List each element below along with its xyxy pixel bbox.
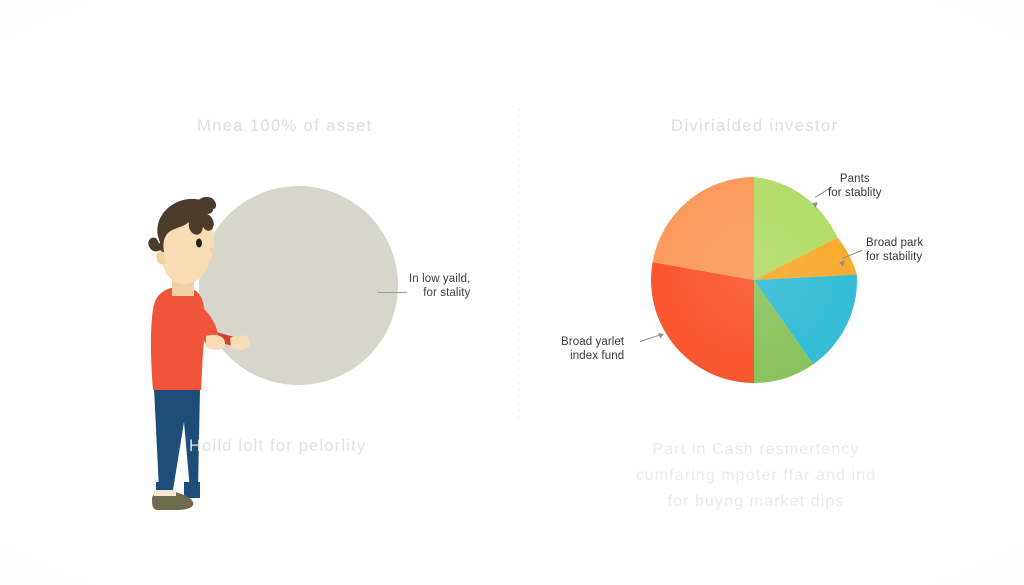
left-callout-line-1: In low yaild, — [409, 272, 470, 286]
portfolio-pie-chart — [649, 175, 859, 385]
right-footer-line-3: for buyng market dips — [576, 489, 936, 515]
panel-divider — [518, 108, 519, 420]
right-footer-line-1: Part in Cash resmertency — [576, 437, 936, 463]
illustration-canvas: Mnea 100% of asset In low yaild, for sta… — [0, 0, 1024, 585]
right-panel-footer: Part in Cash resmertency cumfaring mpote… — [576, 437, 936, 515]
label-broad-market-index-fund: Broad yarlet index fund — [561, 335, 624, 363]
label-pants-line-2: for stablity — [828, 186, 882, 200]
left-callout-line-2: for stality — [409, 286, 470, 300]
pie-shading-overlay — [651, 177, 857, 383]
right-panel-heading: Divirialded investor — [671, 117, 838, 136]
label-broad-park-for-stability: Broad park for stability — [866, 236, 923, 264]
right-footer-line-2: cumfaring mpoter ffar and ind — [576, 463, 936, 489]
label-broad-park-line-1: Broad park — [866, 236, 923, 250]
investor-character — [110, 190, 250, 520]
label-pants-line-1: Pants — [828, 172, 882, 186]
character-eye — [196, 239, 202, 248]
label-index-fund-line-1: Broad yarlet — [561, 335, 624, 349]
character-shirt — [151, 287, 225, 390]
left-panel-heading: Mnea 100% of asset — [197, 117, 373, 136]
left-panel-footer: Holld lolt for pelorlity — [189, 437, 366, 456]
label-index-fund-line-2: index fund — [561, 349, 624, 363]
left-callout-text: In low yaild, for stality — [409, 272, 470, 300]
label-broad-park-line-2: for stability — [866, 250, 923, 264]
left-callout-leader-line — [378, 292, 407, 293]
label-pants-for-stability: Pants for stablity — [828, 172, 882, 200]
